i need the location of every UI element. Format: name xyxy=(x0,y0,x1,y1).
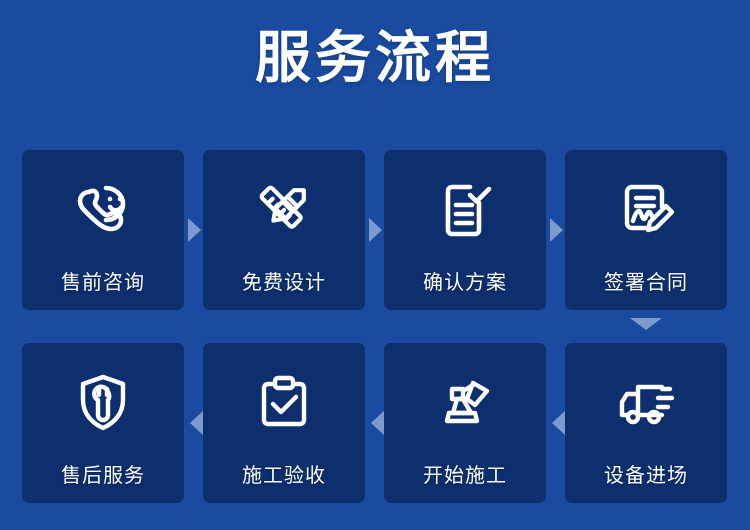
flow-step-start-construction[interactable]: 开始施工 xyxy=(384,343,546,503)
flow-step-label: 售前咨询 xyxy=(61,266,145,295)
flow-step-free-design[interactable]: 免费设计 xyxy=(203,150,365,310)
flow-step-label: 开始施工 xyxy=(423,459,507,488)
flow-step-label: 设备进场 xyxy=(604,459,688,488)
arrow-left-icon xyxy=(190,411,203,435)
flow-row-2: 售后服务 施工验收 xyxy=(22,343,728,503)
flow-step-pre-sales-consultation[interactable]: 售前咨询 xyxy=(22,150,184,310)
arrow-down-icon xyxy=(630,318,662,330)
flow-step-sign-contract[interactable]: 签署合同 xyxy=(565,150,727,310)
flow-step-label: 确认方案 xyxy=(423,266,507,295)
arrow-right-icon xyxy=(369,218,382,242)
flow-step-confirm-plan[interactable]: 确认方案 xyxy=(384,150,546,310)
phone-smile-icon xyxy=(67,174,139,246)
flow-step-label: 售后服务 xyxy=(61,459,145,488)
flow-step-label: 施工验收 xyxy=(242,459,326,488)
arrow-left-icon xyxy=(552,411,565,435)
excavator-icon xyxy=(429,367,501,439)
arrow-right-icon xyxy=(550,218,563,242)
flow-step-label: 签署合同 xyxy=(604,266,688,295)
contract-pen-icon xyxy=(610,174,682,246)
pencil-ruler-icon xyxy=(248,174,320,246)
delivery-truck-icon xyxy=(610,367,682,439)
clipboard-check-icon xyxy=(248,367,320,439)
service-flow-diagram: 售前咨询 免费设计 xyxy=(22,150,728,500)
document-check-icon xyxy=(429,174,501,246)
flow-step-after-sales-service[interactable]: 售后服务 xyxy=(22,343,184,503)
flow-step-label: 免费设计 xyxy=(242,266,326,295)
arrow-left-icon xyxy=(371,411,384,435)
flow-row-1: 售前咨询 免费设计 xyxy=(22,150,728,310)
page-title: 服务流程 xyxy=(0,26,750,90)
shield-wrench-icon xyxy=(67,367,139,439)
flow-step-equipment-arrival[interactable]: 设备进场 xyxy=(565,343,727,503)
flow-step-construction-acceptance[interactable]: 施工验收 xyxy=(203,343,365,503)
arrow-right-icon xyxy=(188,218,201,242)
